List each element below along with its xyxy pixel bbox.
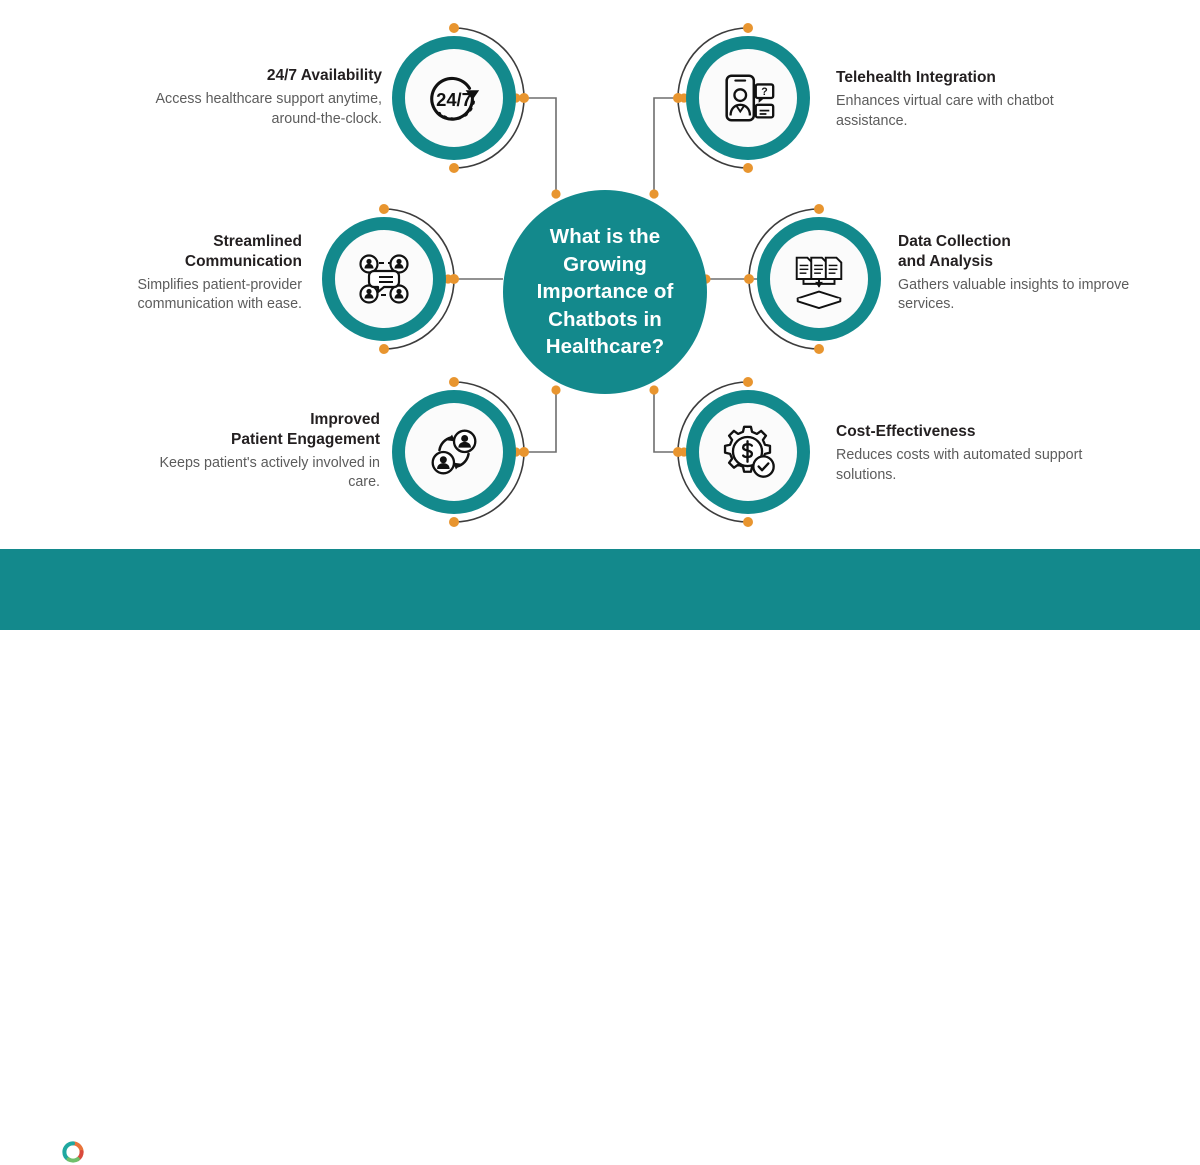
label-title-line: and Analysis <box>898 253 993 270</box>
gear-dollar-check-icon <box>686 390 810 514</box>
svg-text:24/7: 24/7 <box>436 89 472 110</box>
hub-title-line: Importance of <box>537 278 674 305</box>
node-data[interactable] <box>757 217 881 341</box>
hub-title: What is the Growing Importance of Chatbo… <box>525 223 686 360</box>
logo-o-ring-icon <box>62 1141 84 1163</box>
people-network-chat-icon <box>322 217 446 341</box>
node-communication[interactable] <box>322 217 446 341</box>
footer-website[interactable]: www.mindbowser.com <box>915 1129 1107 1150</box>
label-title-line: Streamlined <box>213 233 302 250</box>
label-engagement: Improved Patient Engagement Keeps patien… <box>140 410 380 493</box>
infographic-canvas: What is the Growing Importance of Chatbo… <box>0 0 1200 630</box>
hub-title-line: Healthcare? <box>537 333 674 360</box>
hub-title-line: Growing <box>537 251 674 278</box>
footer-email[interactable]: contact@mindbowser.com <box>465 1129 692 1150</box>
label-title: Improved Patient Engagement <box>140 410 380 450</box>
svg-text:?: ? <box>761 86 768 98</box>
label-title-line: Patient Engagement <box>231 431 380 448</box>
logo-line-bowser: B WSER <box>44 1141 224 1163</box>
label-desc: Enhances virtual care with chatbot assis… <box>836 92 1116 131</box>
hub-title-line: Chatbots in <box>537 306 674 333</box>
label-data: Data Collection and Analysis Gathers val… <box>898 232 1168 315</box>
label-title: Streamlined Communication <box>58 232 302 272</box>
label-title: 24/7 Availability <box>120 66 382 86</box>
node-telehealth[interactable]: ? <box>686 36 810 160</box>
node-engagement[interactable] <box>392 390 516 514</box>
telehealth-phone-icon: ? <box>686 36 810 160</box>
label-communication: Streamlined Communication Simplifies pat… <box>58 232 302 315</box>
logo-text-wser: WSER <box>85 1141 156 1163</box>
label-desc: Gathers valuable insights to improve ser… <box>898 276 1168 315</box>
label-desc: Keeps patient's actively involved in car… <box>140 454 380 493</box>
label-desc: Reduces costs with automated support sol… <box>836 446 1116 485</box>
label-desc: Access healthcare support anytime, aroun… <box>120 90 382 129</box>
users-cycle-icon <box>392 390 516 514</box>
logo-text-b: B <box>44 1141 61 1163</box>
documents-database-icon <box>757 217 881 341</box>
footer-bar: MIND B WSER contact@mindbowser.com www.m… <box>0 549 1200 630</box>
clock-247-icon: 24/7 <box>392 36 516 160</box>
node-cost[interactable] <box>686 390 810 514</box>
node-availability[interactable]: 24/7 <box>392 36 516 160</box>
center-hub: What is the Growing Importance of Chatbo… <box>503 190 707 394</box>
label-desc: Simplifies patient-provider communicatio… <box>58 276 302 315</box>
label-title: Data Collection and Analysis <box>898 232 1168 272</box>
label-cost: Cost-Effectiveness Reduces costs with au… <box>836 422 1116 485</box>
label-title: Cost-Effectiveness <box>836 422 1116 442</box>
label-title-line: Data Collection <box>898 233 1011 250</box>
hub-title-line: What is the <box>537 223 674 250</box>
label-availability: 24/7 Availability Access healthcare supp… <box>120 66 382 129</box>
mindbowser-logo[interactable]: MIND B WSER <box>44 1117 224 1165</box>
label-title: Telehealth Integration <box>836 68 1116 88</box>
logo-line-mind: MIND <box>44 1117 224 1139</box>
label-telehealth: Telehealth Integration Enhances virtual … <box>836 68 1116 131</box>
label-title-line: Communication <box>185 253 302 270</box>
label-title-line: Improved <box>310 411 380 428</box>
